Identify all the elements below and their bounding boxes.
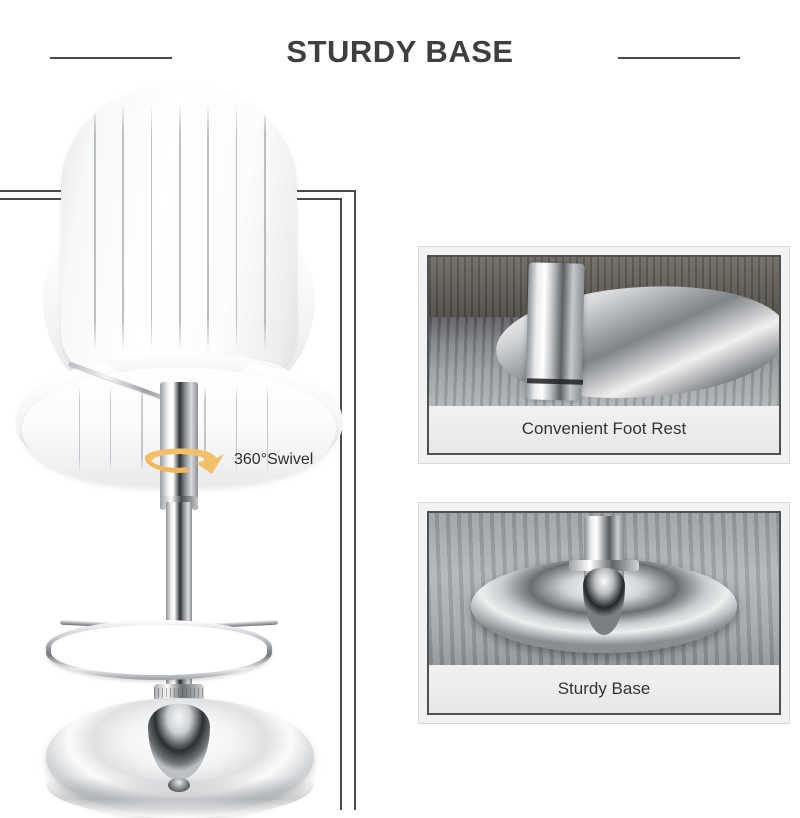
backrest [61, 86, 297, 386]
circular-rotation-arrow-icon [138, 443, 230, 483]
base-center-stud [168, 778, 190, 792]
footrest-ring [46, 620, 272, 680]
sturdy-base-photo [429, 513, 779, 665]
bar-stool-illustration [14, 86, 344, 786]
foot-rest-caption: Convenient Foot Rest [429, 406, 779, 453]
infographic-canvas: STURDY BASE [0, 0, 800, 800]
detail-panel-foot-rest[interactable]: Convenient Foot Rest [418, 246, 790, 464]
detail-panel-foot-rest-inner: Convenient Foot Rest [427, 255, 781, 455]
detail-panel-sturdy-base-inner: Sturdy Base [427, 511, 781, 715]
title-rule-right [618, 57, 740, 59]
swivel-callout: 360°Swivel [138, 443, 338, 487]
page-title: STURDY BASE [0, 34, 800, 70]
sturdy-base-caption: Sturdy Base [429, 665, 779, 713]
base-hub-ridges [154, 688, 204, 697]
foot-rest-photo [429, 257, 779, 406]
backrest-channel-tufting [61, 86, 297, 386]
detail-panel-sturdy-base[interactable]: Sturdy Base [418, 502, 790, 724]
swivel-label: 360°Swivel [234, 451, 313, 469]
